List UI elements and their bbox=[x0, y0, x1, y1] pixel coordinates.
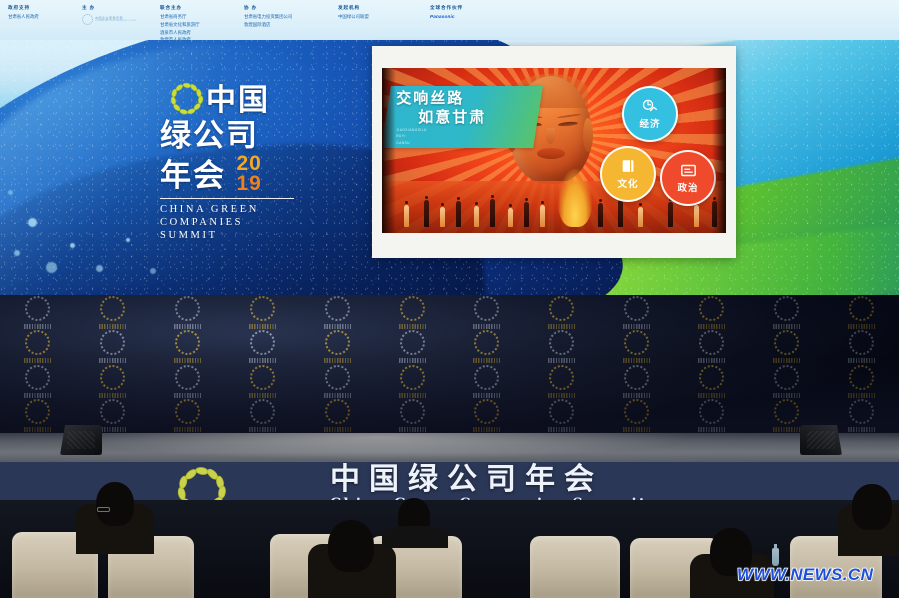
news-watermark: WWW.NEWS.CN bbox=[737, 565, 873, 585]
event-logo-line1: 中国 bbox=[206, 84, 300, 118]
stage-front-title-cn: 中国绿公司年会 bbox=[330, 463, 770, 496]
sponsor-item: 敦煌国际酒店 bbox=[244, 22, 326, 28]
stage-monitor-icon bbox=[800, 425, 842, 455]
slide-title-line2: 如意甘肃 bbox=[418, 109, 538, 126]
slide-title-en2: RUYI bbox=[396, 134, 538, 138]
bokeh-dot bbox=[96, 265, 103, 272]
led-backdrop: 政府支持 甘肃省人民政府 主 办 中国企业家俱乐部 CHINA ENTREPRE… bbox=[0, 0, 899, 295]
bokeh-dot bbox=[150, 268, 156, 274]
sponsor-item: 甘肃省商务厅 bbox=[160, 14, 232, 20]
dancer-silhouette bbox=[668, 202, 673, 227]
audience-person-head bbox=[328, 520, 374, 572]
sponsor-heading: 联合主办 bbox=[160, 5, 232, 12]
sponsor-heading: 政府支持 bbox=[8, 5, 70, 12]
audience-person-shoulders bbox=[382, 526, 448, 548]
sponsor-column-support: 协 办 甘肃省电力投资集团公司 敦煌国际酒店 bbox=[236, 5, 330, 30]
buddha-nose bbox=[546, 128, 555, 144]
backdrop-wall bbox=[0, 295, 899, 433]
sponsor-item: 甘肃省文化和旅游厅 bbox=[160, 22, 232, 28]
audience-person-head bbox=[96, 482, 134, 526]
sponsor-item: 敦煌市人民政府 bbox=[160, 37, 232, 43]
buddha-mouth bbox=[537, 148, 565, 159]
dancer-silhouette bbox=[540, 205, 545, 227]
event-year-bottom: 19 bbox=[236, 174, 261, 194]
sponsor-column-organizer: 主 办 中国企业家俱乐部 CHINA ENTREPRENEUR CLUB bbox=[74, 5, 152, 25]
dancer-silhouette bbox=[474, 206, 479, 227]
eyeglasses-icon bbox=[97, 507, 110, 512]
presentation-slide: 交响丝路 如意甘肃 JIAOXIANGSILU RUYI GANSU bbox=[382, 68, 726, 233]
stage-monitor-icon bbox=[60, 425, 102, 455]
event-logo-line2: 绿公司 bbox=[160, 118, 300, 154]
topic-circle-politics: 政治 bbox=[660, 150, 716, 206]
dancer-silhouette bbox=[638, 207, 643, 227]
panasonic-logo: Panasonic bbox=[430, 14, 520, 21]
wreath-ring-icon bbox=[170, 82, 204, 116]
slide-left-vignette bbox=[382, 68, 396, 233]
dancer-silhouette bbox=[618, 200, 623, 227]
sponsor-item: 中国绿公司联盟 bbox=[338, 14, 418, 20]
dancer-silhouette bbox=[598, 203, 603, 227]
card-icon bbox=[680, 163, 697, 178]
photo-canvas: 政府支持 甘肃省人民政府 主 办 中国企业家俱乐部 CHINA ENTREPRE… bbox=[0, 0, 899, 598]
sponsor-row: 政府支持 甘肃省人民政府 主 办 中国企业家俱乐部 CHINA ENTREPRE… bbox=[0, 0, 899, 40]
slide-title-en1: JIAOXIANGSILU bbox=[396, 128, 538, 132]
dancer-silhouette bbox=[490, 199, 495, 227]
bokeh-dot bbox=[126, 238, 130, 242]
topic-circle-culture: 文化 bbox=[600, 146, 656, 202]
monitor-grille bbox=[67, 431, 95, 449]
buddha-ear bbox=[583, 118, 593, 152]
slide-title-banner: 交响丝路 如意甘肃 JIAOXIANGSILU RUYI GANSU bbox=[382, 86, 543, 148]
event-year: 20 19 bbox=[236, 154, 261, 194]
buddha-eye bbox=[558, 121, 578, 127]
chart-icon bbox=[642, 99, 659, 114]
bokeh-dot bbox=[14, 250, 20, 256]
cec-logo: 中国企业家俱乐部 CHINA ENTREPRENEUR CLUB bbox=[82, 14, 148, 25]
sponsor-column-global-partner: 全球合作伙伴 Panasonic bbox=[422, 5, 524, 21]
projection-screen: 交响丝路 如意甘肃 JIAOXIANGSILU RUYI GANSU bbox=[372, 46, 736, 258]
event-logo: 中国 绿公司 年会 20 19 CHINA GREEN COMPANIES SU… bbox=[160, 84, 300, 242]
sponsor-item: 甘肃省电力投资集团公司 bbox=[244, 14, 326, 20]
buddha-brow bbox=[557, 113, 581, 118]
audience-seat bbox=[530, 536, 620, 598]
slide-title-line1: 交响丝路 bbox=[396, 90, 538, 107]
dancer-silhouette bbox=[508, 208, 513, 227]
dancer-silhouette bbox=[424, 200, 429, 227]
sponsor-column-initiator: 发起机构 中国绿公司联盟 bbox=[330, 5, 422, 22]
event-logo-en-line2: COMPANIES SUMMIT bbox=[160, 216, 300, 242]
topic-label: 经济 bbox=[639, 116, 660, 130]
sponsor-heading: 发起机构 bbox=[338, 5, 418, 12]
sponsor-column-co-organizer: 联合主办 甘肃省商务厅 甘肃省文化和旅游厅 酒泉市人民政府 敦煌市人民政府 bbox=[152, 5, 236, 45]
dancer-silhouette bbox=[440, 207, 445, 227]
cec-logo-en: CHINA ENTREPRENEUR CLUB bbox=[95, 20, 136, 23]
sponsor-item: 酒泉市人民政府 bbox=[160, 30, 232, 36]
bokeh-dot bbox=[8, 190, 13, 195]
bokeh-dot bbox=[46, 262, 57, 273]
slide-title-en3: GANSU bbox=[396, 141, 538, 145]
sponsor-column-government: 政府支持 甘肃省人民政府 bbox=[0, 5, 74, 22]
monitor-grille bbox=[807, 431, 835, 449]
sponsor-heading: 全球合作伙伴 bbox=[430, 5, 520, 12]
book-icon bbox=[620, 159, 637, 174]
audience-person-head bbox=[852, 484, 892, 530]
event-year-top: 20 bbox=[236, 154, 261, 174]
water-bottle bbox=[772, 548, 779, 566]
bokeh-dot bbox=[70, 243, 75, 248]
slide-right-vignette bbox=[712, 68, 726, 233]
event-logo-line3: 年会 bbox=[160, 158, 226, 194]
sponsor-heading: 协 办 bbox=[244, 5, 326, 12]
dancer-silhouette bbox=[694, 205, 699, 227]
wreath-ring-icon bbox=[82, 14, 93, 25]
golden-wheat-prop bbox=[558, 169, 592, 227]
logo-divider bbox=[160, 198, 294, 199]
bokeh-dot bbox=[28, 218, 37, 227]
topic-label: 政治 bbox=[677, 180, 698, 194]
topic-circle-economy: 经济 bbox=[622, 86, 678, 142]
dancer-silhouette bbox=[456, 201, 461, 227]
sponsor-heading: 主 办 bbox=[82, 5, 148, 12]
dancer-silhouette bbox=[524, 202, 529, 227]
topic-label: 文化 bbox=[617, 176, 638, 190]
sponsor-item: 甘肃省人民政府 bbox=[8, 14, 70, 20]
dancer-silhouette bbox=[404, 205, 409, 227]
wall-lighting-vignette bbox=[0, 295, 899, 433]
event-logo-en-line1: CHINA GREEN bbox=[160, 203, 300, 216]
